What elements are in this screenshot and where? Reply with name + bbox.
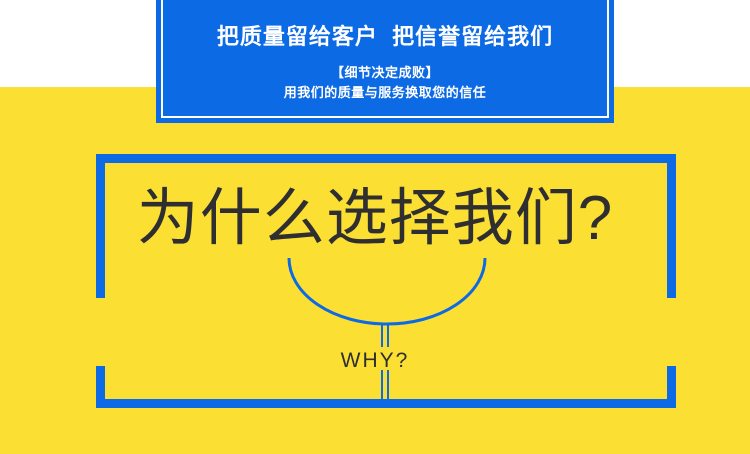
arc-decoration-icon — [287, 258, 487, 328]
frame-bottom-bar — [96, 399, 676, 408]
connector-line-upper-right — [387, 325, 389, 347]
why-label: WHY? — [0, 350, 750, 371]
frame-top-bar — [96, 154, 676, 163]
banner-subtitle-line-2: 用我们的质量与服务换取您的信任 — [284, 84, 487, 102]
banner-headline: 把质量留给客户 把信誉留给我们 — [217, 25, 553, 49]
connector-line-lower-left — [381, 370, 383, 402]
banner-subtitle-line-1: 【细节决定成败】 — [331, 64, 439, 82]
banner-content: 把质量留给客户 把信誉留给我们 【细节决定成败】 用我们的质量与服务换取您的信任 — [156, 0, 614, 123]
frame-right-lower-segment — [667, 366, 676, 408]
promo-banner-page: 把质量留给客户 把信誉留给我们 【细节决定成败】 用我们的质量与服务换取您的信任… — [0, 0, 750, 454]
frame-left-lower-segment — [96, 366, 105, 408]
connector-line-upper-left — [381, 325, 383, 347]
header-banner: 把质量留给客户 把信誉留给我们 【细节决定成败】 用我们的质量与服务换取您的信任 — [156, 0, 614, 123]
page-title: 为什么选择我们? — [0, 186, 750, 251]
connector-line-lower-right — [387, 370, 389, 402]
